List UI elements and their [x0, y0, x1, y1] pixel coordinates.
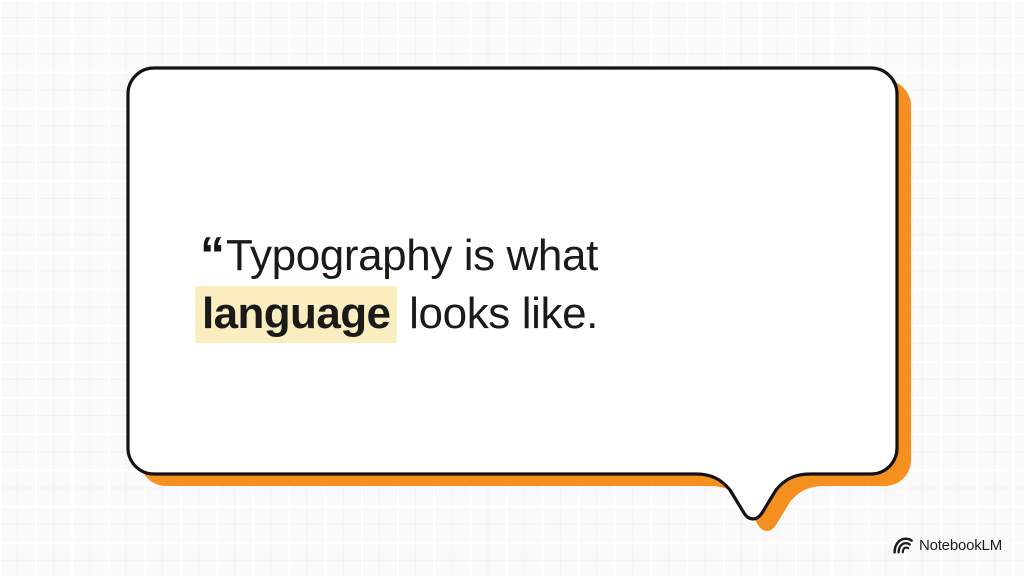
quote-line-2-text: looks like.: [397, 289, 598, 338]
quote-line-1-text: Typography is what: [226, 231, 598, 280]
quote-line-1: “Typography is what: [200, 224, 760, 285]
quote-line-2: language looks like.: [200, 285, 760, 343]
watermark-label: NotebookLM: [919, 537, 1002, 554]
watermark: NotebookLM: [893, 537, 1002, 554]
open-quote-mark: “: [200, 226, 224, 284]
quote-block: “Typography is what language looks like.: [200, 224, 760, 343]
quote-highlighted-word: language: [195, 286, 397, 343]
notebooklm-logo-icon: [893, 537, 913, 554]
